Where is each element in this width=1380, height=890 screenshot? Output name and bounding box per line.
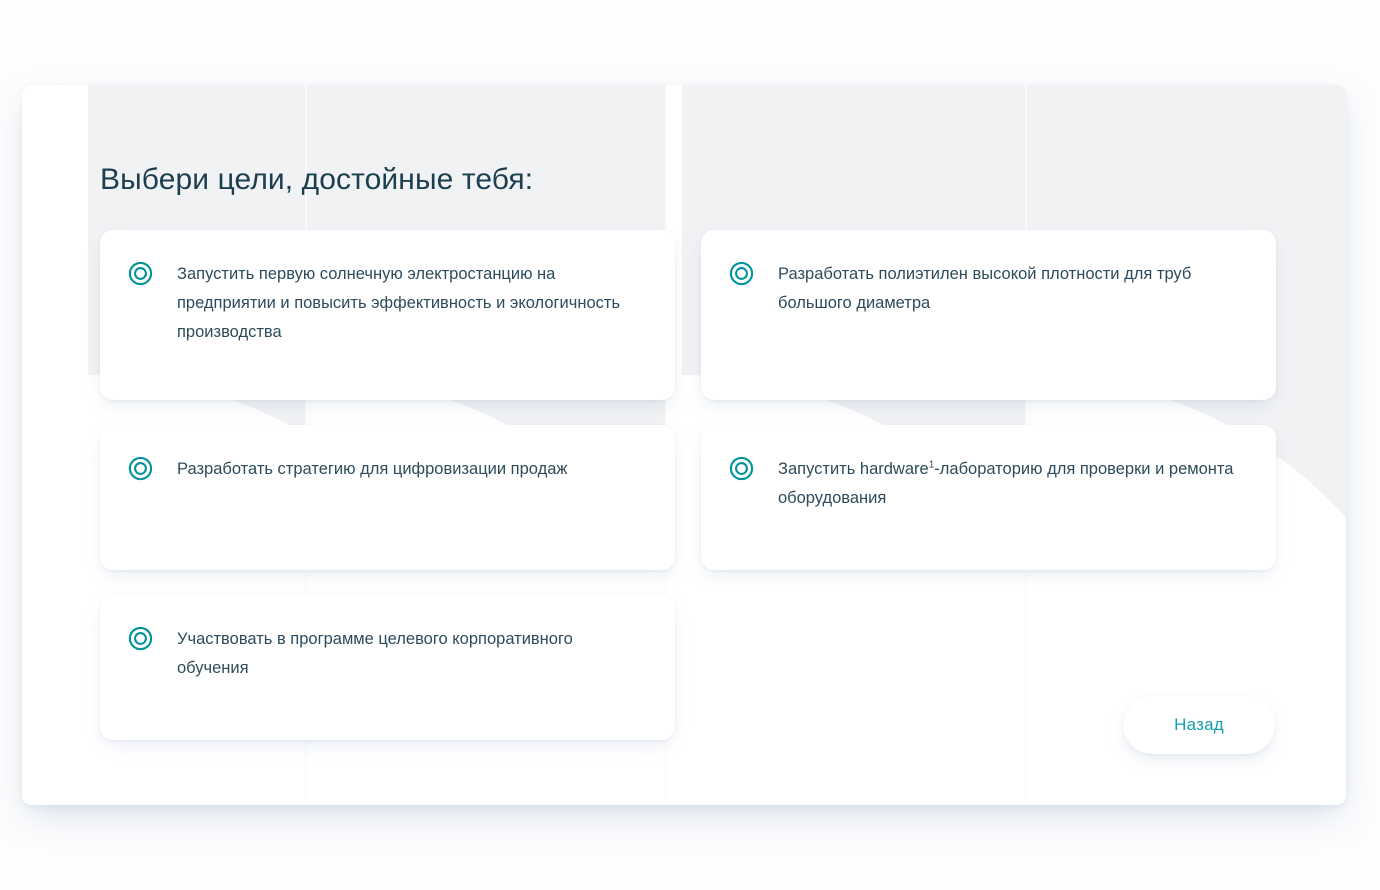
- page-title: Выбери цели, достойные тебя:: [100, 161, 533, 199]
- goal-card[interactable]: Разработать полиэтилен высокой плотности…: [701, 230, 1276, 400]
- goal-label: Участвовать в программе целевого корпора…: [177, 625, 647, 683]
- target-circles-icon: [128, 261, 153, 286]
- back-button[interactable]: Назад: [1123, 696, 1275, 754]
- goal-label: Разработать полиэтилен высокой плотности…: [778, 260, 1248, 318]
- goal-label: Запустить первую солнечную электростанци…: [177, 260, 647, 347]
- goal-label: Запустить hardware1-лабораторию для пров…: [778, 455, 1248, 513]
- target-circles-icon: [128, 456, 153, 481]
- target-circles-icon: [729, 456, 754, 481]
- screen-root: Выбери цели, достойные тебя: Запустить п…: [0, 0, 1380, 890]
- main-panel: Выбери цели, достойные тебя: Запустить п…: [22, 85, 1346, 805]
- panel-content: Выбери цели, достойные тебя: Запустить п…: [22, 85, 1346, 805]
- goal-card[interactable]: Участвовать в программе целевого корпора…: [100, 595, 675, 740]
- goal-card[interactable]: Разработать стратегию для цифровизации п…: [100, 425, 675, 570]
- goal-card[interactable]: Запустить hardware1-лабораторию для пров…: [701, 425, 1276, 570]
- goal-card[interactable]: Запустить первую солнечную электростанци…: [100, 230, 675, 400]
- target-circles-icon: [128, 626, 153, 651]
- goal-label-part-1: Запустить hardware: [778, 460, 929, 478]
- goal-label: Разработать стратегию для цифровизации п…: [177, 455, 567, 484]
- target-circles-icon: [729, 261, 754, 286]
- goals-grid: Запустить первую солнечную электростанци…: [100, 230, 1276, 740]
